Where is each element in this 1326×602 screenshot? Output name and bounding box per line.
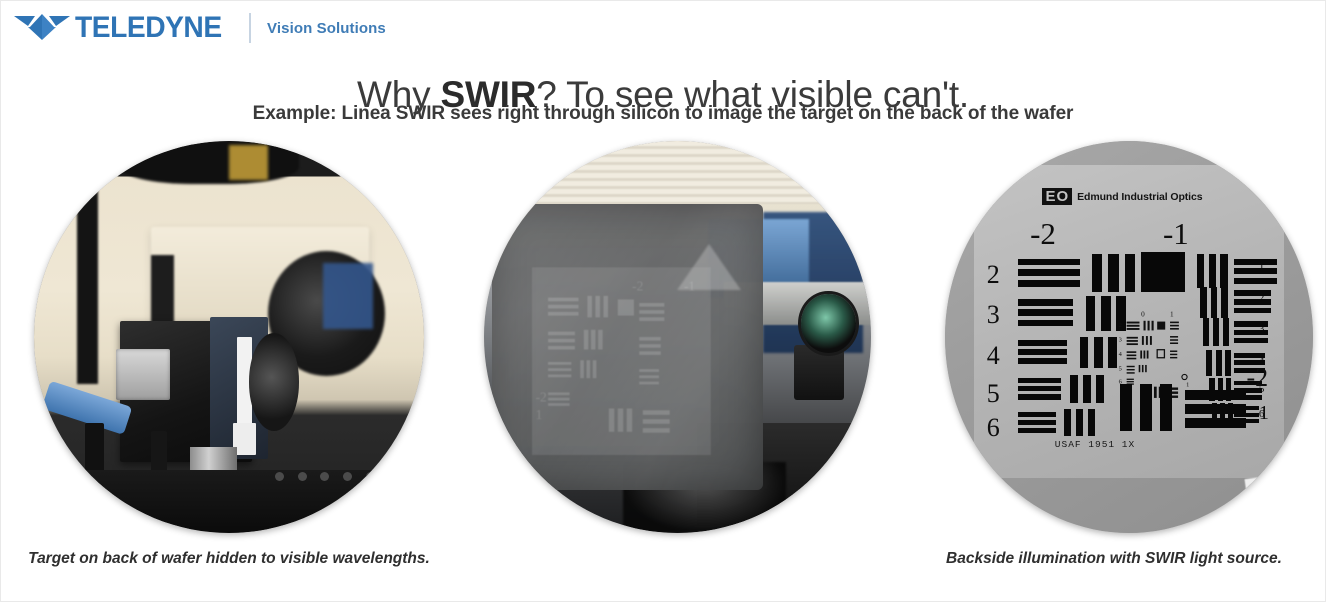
caption-left: Target on back of wafer hidden to visibl… xyxy=(19,549,439,570)
bargroup-v-large xyxy=(1120,384,1173,431)
p2-camera-lens xyxy=(801,294,855,353)
p2-ghost-usaf-target: -2-1 -21 xyxy=(532,261,711,461)
bargroup-h-row3 xyxy=(1018,299,1074,326)
caption-right: Backside illumination with SWIR light so… xyxy=(911,549,1317,570)
bargroup-h-r1 xyxy=(1234,259,1277,284)
p1-brass-clamp xyxy=(229,145,268,180)
figure-visible-light-camera xyxy=(34,141,424,533)
brand-divider xyxy=(249,13,251,43)
svg-text:-2: -2 xyxy=(536,389,547,404)
bargroup-h-r3 xyxy=(1234,321,1268,343)
bargroup-h-row6 xyxy=(1018,412,1057,432)
edmund-brand-text: Edmund Industrial Optics xyxy=(1077,191,1202,203)
bargroup-h-r2 xyxy=(1234,290,1271,314)
bargroup-h-row4 xyxy=(1018,340,1067,364)
svg-text:2: 2 xyxy=(1118,322,1121,329)
row-number-2: 2 xyxy=(987,262,1000,288)
p1-frame-post-left xyxy=(77,165,98,385)
bargroup-v-row6 xyxy=(1064,409,1095,436)
large-element-square xyxy=(1141,252,1184,291)
row-number-6: 6 xyxy=(987,415,1000,441)
bargroup-v-r2 xyxy=(1200,287,1228,318)
svg-text:1: 1 xyxy=(1186,381,1189,388)
row-number-3: 3 xyxy=(987,302,1000,328)
svg-text:-2: -2 xyxy=(632,278,643,293)
slide-subtitle: Example: Linea SWIR sees right through s… xyxy=(1,103,1325,125)
slide-canvas: TELEDYNE Vision Solutions Why SWIR? To s… xyxy=(0,0,1326,602)
bargroup-h-row5 xyxy=(1018,378,1061,400)
edmund-optics-logo: EO Edmund Industrial Optics xyxy=(1042,188,1202,205)
bargroup-v-row2 xyxy=(1092,254,1135,292)
bargroup-v-r1 xyxy=(1197,254,1228,288)
brand-header: TELEDYNE Vision Solutions xyxy=(13,9,386,47)
corner-group-label: -2 xyxy=(1246,365,1268,391)
bargroup-v-r4 xyxy=(1206,350,1231,377)
group-label-minus2: -2 xyxy=(1030,218,1056,249)
bargroup-h-row2 xyxy=(1018,259,1080,287)
usaf-footer-text: USAF 1951 1X xyxy=(1055,439,1135,450)
corner-element-label: 1 xyxy=(1259,403,1269,423)
figure-wafer-blocking-target: -2-1 -21 xyxy=(484,141,871,533)
svg-text:5: 5 xyxy=(1118,365,1121,372)
p2-silicon-wafer: -2-1 -21 xyxy=(492,204,763,490)
photo-1-content xyxy=(34,141,424,533)
svg-text:3: 3 xyxy=(1118,336,1121,343)
figure-swir-usaf-target: EO Edmund Industrial Optics -2 -1 2 3 4 … xyxy=(945,141,1313,533)
bargroup-h-large xyxy=(1185,390,1247,428)
photo-3-content: EO Edmund Industrial Optics -2 -1 2 3 4 … xyxy=(945,141,1313,533)
svg-text:0: 0 xyxy=(1141,310,1145,318)
photo-2-content: -2-1 -21 xyxy=(484,141,871,533)
teledyne-chevron-logo-icon xyxy=(13,13,71,43)
p1-overhead-rail xyxy=(120,141,299,184)
p1-breadboard-holes xyxy=(268,466,405,486)
p1-blue-fixture xyxy=(323,263,374,330)
bargroup-v-row4 xyxy=(1080,337,1117,368)
bargroup-v-r3 xyxy=(1203,318,1229,346)
p3-target-card: EO Edmund Industrial Optics -2 -1 2 3 4 … xyxy=(974,165,1283,479)
group-label-minus1: -1 xyxy=(1163,218,1189,249)
teledyne-wordmark: TELEDYNE xyxy=(75,13,222,43)
bargroup-v-row5 xyxy=(1070,375,1104,403)
p1-cable-connector xyxy=(116,349,171,400)
row-number-5: 5 xyxy=(987,381,1000,407)
brand-tagline: Vision Solutions xyxy=(267,20,386,37)
svg-text:-1: -1 xyxy=(684,278,695,293)
p2-lens-body xyxy=(794,345,844,400)
p2-ceiling-panels xyxy=(515,141,840,204)
svg-text:4: 4 xyxy=(1118,351,1122,358)
edmund-mark: EO xyxy=(1042,188,1072,205)
svg-text:1: 1 xyxy=(536,407,543,422)
row-number-4: 4 xyxy=(987,343,1000,369)
p1-lens-ring xyxy=(249,333,300,431)
svg-text:1: 1 xyxy=(1170,310,1174,318)
